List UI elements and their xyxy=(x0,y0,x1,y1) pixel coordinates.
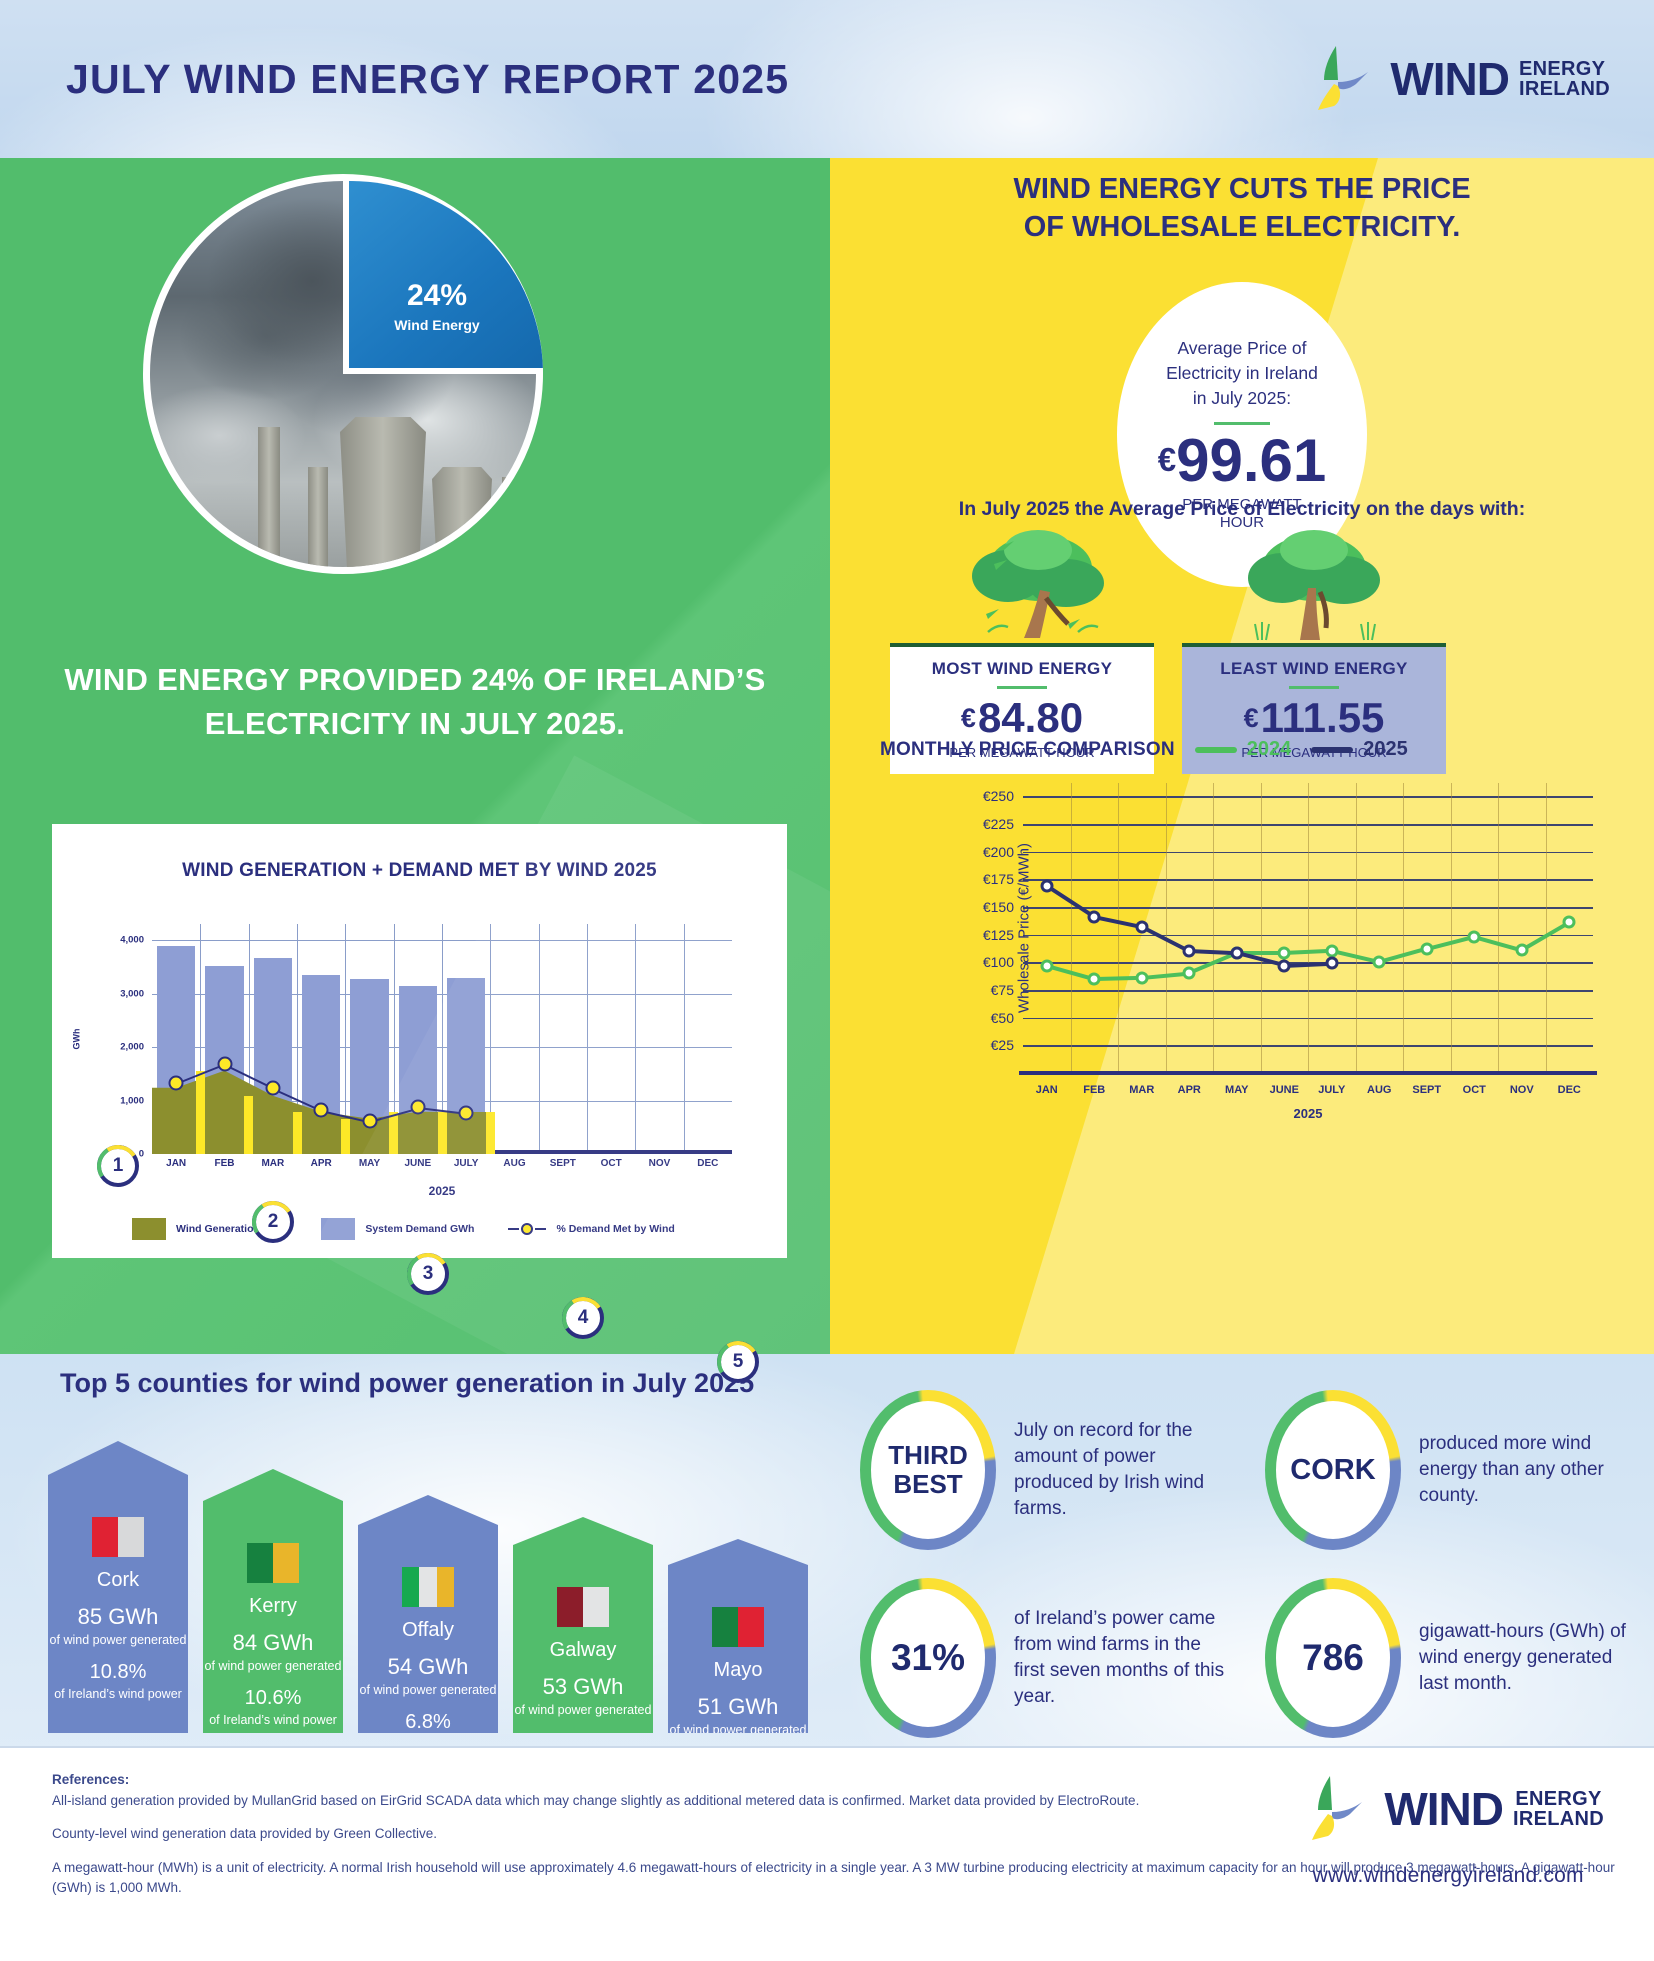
gridline xyxy=(1071,783,1072,1073)
counties-list: 1Cork85 GWhof wind power generated10.8%o… xyxy=(48,1408,838,1733)
bar-chart-legend: Wind Generation GWh System Demand GWh % … xyxy=(132,1218,757,1240)
stat-value: 786 xyxy=(1276,1589,1390,1727)
county-gwh-value: 54 GWh xyxy=(358,1654,498,1680)
county-body: Galway53 GWhof wind power generated6.7%o… xyxy=(513,1517,653,1733)
county-card-kerry[interactable]: 2Kerry84 GWhof wind power generated10.6%… xyxy=(203,1469,343,1733)
reference-text-1: All-island generation provided by Mullan… xyxy=(52,1793,1139,1808)
y-axis-tick-label: 2,000 xyxy=(120,1042,144,1053)
month-divider-stripe xyxy=(293,1112,302,1154)
county-card-galway[interactable]: 4Galway53 GWhof wind power generated6.7%… xyxy=(513,1517,653,1733)
data-point-2024 xyxy=(1088,972,1101,985)
turbine-logo-icon xyxy=(1298,40,1376,118)
gridline xyxy=(1498,783,1499,1073)
x-axis-tick-label: JAN xyxy=(1036,1084,1058,1096)
demand-met-marker xyxy=(459,1106,474,1121)
data-point-2024 xyxy=(1325,945,1338,958)
euro-symbol: € xyxy=(1244,703,1259,733)
x-axis-tick-label: JULY xyxy=(454,1158,479,1169)
stat-description: gigawatt-hours (GWh) of wind energy gene… xyxy=(1419,1619,1634,1696)
least-wind-price-number: 111.55 xyxy=(1261,694,1385,741)
bar-chart-y-axis-title: GWh xyxy=(72,1029,82,1050)
demand-met-marker xyxy=(410,1100,425,1115)
month-divider-stripe xyxy=(486,1112,495,1154)
infographic-page: JULY WIND ENERGY REPORT 2025 WIND ENERGY… xyxy=(0,0,1654,1961)
county-card-cork[interactable]: 1Cork85 GWhof wind power generated10.8%o… xyxy=(48,1441,188,1733)
wind-share-pie-chart: 24% Wind Energy xyxy=(143,174,543,574)
yellow-panel-subheading: In July 2025 the Average Price of Electr… xyxy=(830,498,1654,521)
x-axis-tick-label: APR xyxy=(1178,1084,1201,1096)
page-header: JULY WIND ENERGY REPORT 2025 WIND ENERGY… xyxy=(0,0,1654,158)
county-share-value: 10.8% xyxy=(48,1661,188,1684)
month-divider-stripe xyxy=(438,1112,447,1154)
y-axis-tick-label: 4,000 xyxy=(120,935,144,946)
pie-slice-label: 24% Wind Energy xyxy=(377,281,497,333)
calm-tree-icon xyxy=(1182,528,1446,643)
month-divider-stripe xyxy=(244,1096,253,1154)
x-axis-tick-label: JULY xyxy=(1318,1084,1345,1096)
avg-label-line3: in July 2025: xyxy=(1166,386,1318,411)
data-point-2025 xyxy=(1088,910,1101,923)
demand-met-marker xyxy=(314,1102,329,1117)
bar-chart-plot: 01,0002,0003,0004,000JANFEBMARAPRMAYJUNE… xyxy=(152,924,732,1154)
divider-rule xyxy=(1214,422,1270,425)
data-point-2024 xyxy=(1040,959,1053,972)
y-axis-tick-label: €25 xyxy=(991,1037,1014,1053)
footer-logo-block: WIND ENERGY IRELAND www.windenergyirelan… xyxy=(1292,1770,1604,1888)
legend-swatch-2024 xyxy=(1195,747,1237,753)
y-axis-tick-label: €175 xyxy=(983,871,1014,887)
county-flag-icon xyxy=(92,1517,144,1557)
wind-generation-area xyxy=(152,924,732,1154)
data-point-2025 xyxy=(1230,947,1243,960)
yellow-panel: WIND ENERGY CUTS THE PRICE OF WHOLESALE … xyxy=(830,158,1654,1354)
divider-rule xyxy=(997,686,1047,689)
x-axis-tick-label: SEPT xyxy=(550,1158,576,1169)
x-axis-tick-label: SEPT xyxy=(1412,1084,1441,1096)
gridline xyxy=(635,924,636,1150)
counties-section-title: Top 5 counties for wind power generation… xyxy=(60,1368,754,1399)
y-axis-tick-label: €225 xyxy=(983,816,1014,832)
x-axis-tick-label: MAY xyxy=(359,1158,380,1169)
stat-donut: 31% xyxy=(860,1578,996,1738)
data-point-2025 xyxy=(1135,920,1148,933)
line-chart-x-axis xyxy=(1019,1071,1597,1075)
county-card-offaly[interactable]: 3Offaly54 GWhof wind power generated6.8%… xyxy=(358,1495,498,1733)
least-wind-title: LEAST WIND ENERGY xyxy=(1190,659,1438,679)
stat-card-0: THIRD BESTJuly on record for the amount … xyxy=(860,1390,1229,1550)
chimney-icon xyxy=(258,427,280,567)
stat-value: THIRD BEST xyxy=(871,1401,985,1539)
county-gwh-value: 53 GWh xyxy=(513,1674,653,1700)
pie-percent-caption: Wind Energy xyxy=(377,317,497,333)
x-axis-tick-label: APR xyxy=(311,1158,332,1169)
stats-list: THIRD BESTJuly on record for the amount … xyxy=(860,1390,1640,1735)
data-point-2025 xyxy=(1278,959,1291,972)
x-axis-tick-label: JUNE xyxy=(404,1158,431,1169)
y-axis-tick-label: €150 xyxy=(983,899,1014,915)
county-name: Galway xyxy=(513,1639,653,1662)
data-point-2024 xyxy=(1563,916,1576,929)
county-flag-icon xyxy=(402,1567,454,1607)
county-gwh-value: 85 GWh xyxy=(48,1604,188,1630)
x-axis-tick-label: AUG xyxy=(1367,1084,1391,1096)
x-axis-tick-label: OCT xyxy=(601,1158,622,1169)
page-title: JULY WIND ENERGY REPORT 2025 xyxy=(66,56,789,103)
cooling-tower-icon xyxy=(432,467,492,567)
windy-tree-icon xyxy=(890,528,1154,643)
bar-chart-x-axis-title: 2025 xyxy=(429,1184,456,1198)
county-flag-icon xyxy=(712,1607,764,1647)
euro-symbol: € xyxy=(961,703,976,733)
bar-chart-title: WIND GENERATION + DEMAND MET BY WIND 202… xyxy=(52,860,787,882)
rank-badge: 2 xyxy=(252,1201,294,1243)
county-name: Offaly xyxy=(358,1619,498,1642)
legend-marker-icon xyxy=(508,1223,546,1235)
x-axis-tick-label: OCT xyxy=(1463,1084,1486,1096)
stat-description: July on record for the amount of power p… xyxy=(1014,1418,1229,1521)
x-axis-tick-label: DEC xyxy=(697,1158,718,1169)
legend-item-2024: 2024 xyxy=(1195,738,1292,761)
logo-wordmark: WIND ENERGY IRELAND xyxy=(1390,56,1610,102)
rank-badge: 1 xyxy=(97,1145,139,1187)
y-axis-tick-label: €75 xyxy=(991,982,1014,998)
stat-donut: 786 xyxy=(1265,1578,1401,1738)
stat-description: produced more wind energy than any other… xyxy=(1419,1431,1634,1508)
yellow-heading-line1: WIND ENERGY CUTS THE PRICE xyxy=(880,170,1604,208)
stat-card-1: CORKproduced more wind energy than any o… xyxy=(1265,1390,1634,1550)
gridline xyxy=(587,924,588,1150)
gridline xyxy=(684,924,685,1150)
gridline xyxy=(1213,783,1214,1073)
data-point-2024 xyxy=(1515,944,1528,957)
x-axis-tick-label: NOV xyxy=(1510,1084,1534,1096)
stat-value: 31% xyxy=(871,1589,985,1727)
stat-card-3: 786gigawatt-hours (GWh) of wind energy g… xyxy=(1265,1578,1634,1738)
gridline xyxy=(1166,783,1167,1073)
demand-met-marker xyxy=(217,1057,232,1072)
turbine-logo-icon xyxy=(1292,1770,1370,1848)
gridline xyxy=(1403,783,1404,1073)
footer-logo-wordmark: WIND ENERGY IRELAND xyxy=(1384,1786,1604,1832)
month-divider-stripe xyxy=(196,1071,205,1154)
legend-label-demand: System Demand GWh xyxy=(365,1223,474,1235)
county-card-mayo[interactable]: 5Mayo51 GWhof wind power generated6.4%of… xyxy=(668,1539,808,1733)
footer-logo-energy-text: ENERGY xyxy=(1513,1789,1604,1809)
yellow-panel-heading: WIND ENERGY CUTS THE PRICE OF WHOLESALE … xyxy=(880,170,1604,247)
county-body: Offaly54 GWhof wind power generated6.8%o… xyxy=(358,1495,498,1733)
references-title: References: xyxy=(52,1772,129,1787)
demand-met-marker xyxy=(265,1080,280,1095)
most-wind-price: €84.80 xyxy=(898,695,1146,741)
y-axis-tick-label: €50 xyxy=(991,1010,1014,1026)
avg-label-line1: Average Price of xyxy=(1166,336,1318,361)
x-axis-tick-label: NOV xyxy=(649,1158,671,1169)
x-axis-tick-label: AUG xyxy=(503,1158,525,1169)
page-footer: References: All-island generation provid… xyxy=(0,1746,1654,1961)
month-divider-stripe xyxy=(389,1112,398,1154)
footer-website-url[interactable]: www.windenergyireland.com xyxy=(1292,1864,1604,1888)
wind-generation-chart-card: WIND GENERATION + DEMAND MET BY WIND 202… xyxy=(52,824,787,1258)
data-point-2024 xyxy=(1278,947,1291,960)
y-axis-tick-label: 3,000 xyxy=(120,988,144,999)
cooling-tower-icon xyxy=(340,417,426,567)
x-axis-tick-label: DEC xyxy=(1558,1084,1581,1096)
rank-badge: 4 xyxy=(562,1297,604,1339)
county-gwh-caption: of wind power generated xyxy=(203,1658,343,1674)
gridline xyxy=(1308,783,1309,1073)
average-price-value: €99.61 xyxy=(1158,429,1327,492)
legend-label-demand-met: % Demand Met by Wind xyxy=(556,1223,674,1235)
legend-swatch-2025 xyxy=(1311,747,1353,753)
legend-label-2024: 2024 xyxy=(1247,738,1292,761)
average-price-label: Average Price of Electricity in Ireland … xyxy=(1166,336,1318,411)
green-panel-heading: WIND ENERGY PROVIDED 24% OF IRELAND’S EL… xyxy=(60,658,770,746)
line-chart-header: MONTHLY PRICE COMPARISON 2024 2025 xyxy=(880,738,1408,761)
x-axis-tick-label: MAR xyxy=(261,1158,284,1169)
gridline xyxy=(1451,783,1452,1073)
logo-ireland-text: IRELAND xyxy=(1519,79,1610,99)
stat-value: CORK xyxy=(1276,1401,1390,1539)
y-axis-tick-label: €250 xyxy=(983,788,1014,804)
stat-description: of Ireland’s power came from wind farms … xyxy=(1014,1606,1229,1709)
county-body: Kerry84 GWhof wind power generated10.6%o… xyxy=(203,1469,343,1733)
footer-logo-ireland-text: IRELAND xyxy=(1513,1809,1604,1829)
county-share-value: 10.6% xyxy=(203,1687,343,1710)
monthly-price-line-chart: €25€50€75€100€125€150€175€200€225€250JAN… xyxy=(1023,783,1593,1073)
pie-percent-value: 24% xyxy=(377,281,497,311)
month-divider-stripe xyxy=(341,1119,350,1154)
x-axis-tick-label: MAY xyxy=(1225,1084,1248,1096)
y-axis-tick-label: 1,000 xyxy=(120,1095,144,1106)
line-chart-gridlines: €25€50€75€100€125€150€175€200€225€250JAN… xyxy=(1023,783,1593,1073)
data-point-2024 xyxy=(1373,956,1386,969)
county-gwh-caption: of wind power generated xyxy=(358,1682,498,1698)
legend-item-system-demand: System Demand GWh xyxy=(321,1218,474,1240)
gridline xyxy=(1356,783,1357,1073)
county-name: Kerry xyxy=(203,1595,343,1618)
footer-logo-subtext: ENERGY IRELAND xyxy=(1513,1789,1604,1830)
gridline xyxy=(490,924,491,1150)
data-point-2024 xyxy=(1420,943,1433,956)
data-point-2024 xyxy=(1468,930,1481,943)
bar-system-demand xyxy=(447,978,485,1155)
most-wind-title: MOST WIND ENERGY xyxy=(898,659,1146,679)
avg-label-line2: Electricity in Ireland xyxy=(1166,361,1318,386)
data-point-2024 xyxy=(1183,967,1196,980)
x-axis-tick-label: FEB xyxy=(1083,1084,1105,1096)
line-chart-x-axis-title: 2025 xyxy=(1294,1106,1323,1121)
chimney-icon xyxy=(308,467,328,567)
line-chart-title: MONTHLY PRICE COMPARISON xyxy=(880,739,1175,761)
legend-item-2025: 2025 xyxy=(1311,738,1408,761)
county-gwh-value: 84 GWh xyxy=(203,1630,343,1656)
gridline xyxy=(1261,783,1262,1073)
data-point-2025 xyxy=(1325,957,1338,970)
average-price-number: 99.61 xyxy=(1176,427,1326,494)
county-body: Cork85 GWhof wind power generated10.8%of… xyxy=(48,1441,188,1733)
footer-logo-wind-text: WIND xyxy=(1384,1786,1503,1832)
stat-donut: CORK xyxy=(1265,1390,1401,1550)
most-wind-price-number: 84.80 xyxy=(978,694,1083,741)
yellow-heading-line2: OF WHOLESALE ELECTRICITY. xyxy=(880,208,1604,246)
county-share-value: 6.8% xyxy=(358,1711,498,1734)
legend-swatch-demand xyxy=(321,1218,355,1240)
logo-wind-text: WIND xyxy=(1390,56,1509,102)
county-body: Mayo51 GWhof wind power generated6.4%of … xyxy=(668,1539,808,1733)
rank-badge: 3 xyxy=(407,1253,449,1295)
x-axis-tick-label: MAR xyxy=(1129,1084,1154,1096)
gridline xyxy=(539,924,540,1150)
county-share-caption: of Ireland’s wind power xyxy=(48,1686,188,1702)
county-share-caption: of Ireland’s wind power xyxy=(203,1712,343,1728)
county-name: Mayo xyxy=(668,1659,808,1682)
legend-swatch-wind xyxy=(132,1218,166,1240)
logo-subtext: ENERGY IRELAND xyxy=(1519,59,1610,100)
y-axis-tick-label: 0 xyxy=(139,1149,144,1160)
county-flag-icon xyxy=(247,1543,299,1583)
x-axis-tick-label: FEB xyxy=(215,1158,235,1169)
legend-item-demand-met: % Demand Met by Wind xyxy=(508,1223,674,1235)
data-point-2025 xyxy=(1040,879,1053,892)
divider-rule xyxy=(1289,686,1339,689)
least-wind-price: €111.55 xyxy=(1190,695,1438,741)
y-axis-tick-label: €125 xyxy=(983,927,1014,943)
county-gwh-value: 51 GWh xyxy=(668,1694,808,1720)
x-axis-tick-label: JAN xyxy=(166,1158,186,1169)
legend-label-2025: 2025 xyxy=(1363,738,1408,761)
county-gwh-caption: of wind power generated xyxy=(513,1702,653,1718)
rank-badge: 5 xyxy=(717,1341,759,1383)
gridline xyxy=(1546,783,1547,1073)
county-gwh-caption: of wind power generated xyxy=(48,1632,188,1648)
y-axis-tick-label: €100 xyxy=(983,954,1014,970)
gridline xyxy=(1118,783,1119,1073)
stat-card-2: 31%of Ireland’s power came from wind far… xyxy=(860,1578,1229,1738)
data-point-2024 xyxy=(1135,971,1148,984)
demand-met-marker xyxy=(169,1076,184,1091)
logo-energy-text: ENERGY xyxy=(1519,59,1610,79)
y-axis-tick-label: €200 xyxy=(983,844,1014,860)
line-chart-y-axis-title: Wholesale Price (€/MWh) xyxy=(1016,843,1033,1013)
chimney-icon xyxy=(502,477,516,567)
stat-donut: THIRD BEST xyxy=(860,1390,996,1550)
demand-met-marker xyxy=(362,1113,377,1128)
data-point-2025 xyxy=(1183,945,1196,958)
county-name: Cork xyxy=(48,1569,188,1592)
demand-met-line-segment xyxy=(418,1107,467,1115)
x-axis-tick-label: JUNE xyxy=(1270,1084,1299,1096)
wind-energy-ireland-logo: WIND ENERGY IRELAND xyxy=(1298,40,1610,118)
county-flag-icon xyxy=(557,1587,609,1627)
euro-symbol: € xyxy=(1158,441,1176,478)
footer-wind-energy-ireland-logo: WIND ENERGY IRELAND xyxy=(1292,1770,1604,1848)
